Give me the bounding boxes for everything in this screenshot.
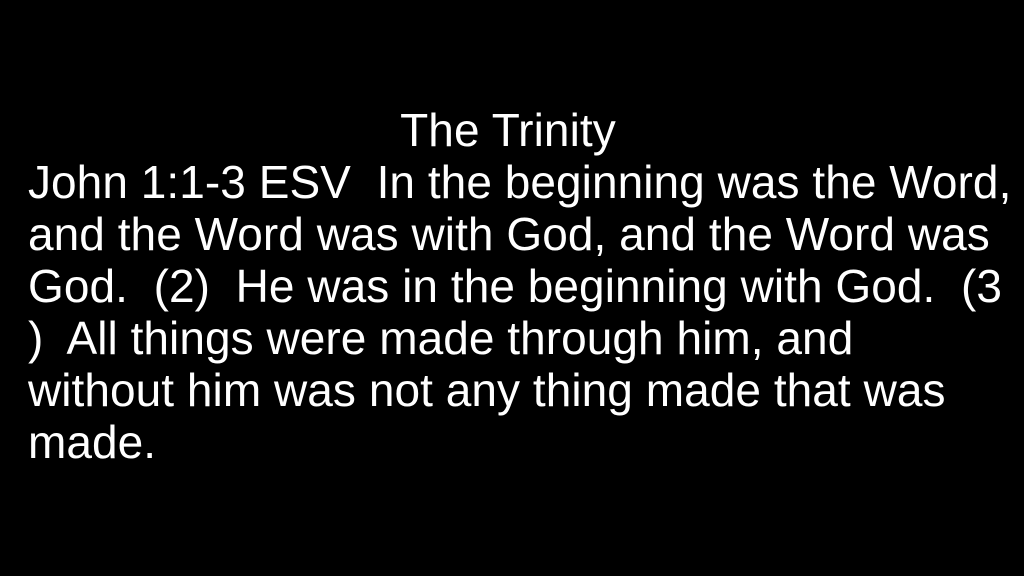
verse-line: God. (2) He was in the beginning with Go… — [28, 260, 1004, 312]
scripture-text-block: John 1:1-3 ESV In the beginning was the … — [28, 156, 1004, 468]
verse-line: made. — [28, 416, 1004, 468]
verse-line: and the Word was with God, and the Word … — [28, 208, 1004, 260]
verse-line: ) All things were made through him, and — [28, 312, 1004, 364]
page-title: The Trinity — [0, 104, 1024, 156]
verse-line: John 1:1-3 ESV In the beginning was the … — [28, 156, 1004, 208]
verse-line: without him was not any thing made that … — [28, 364, 1004, 416]
presentation-slide: The Trinity John 1:1-3 ESV In the beginn… — [0, 0, 1024, 576]
